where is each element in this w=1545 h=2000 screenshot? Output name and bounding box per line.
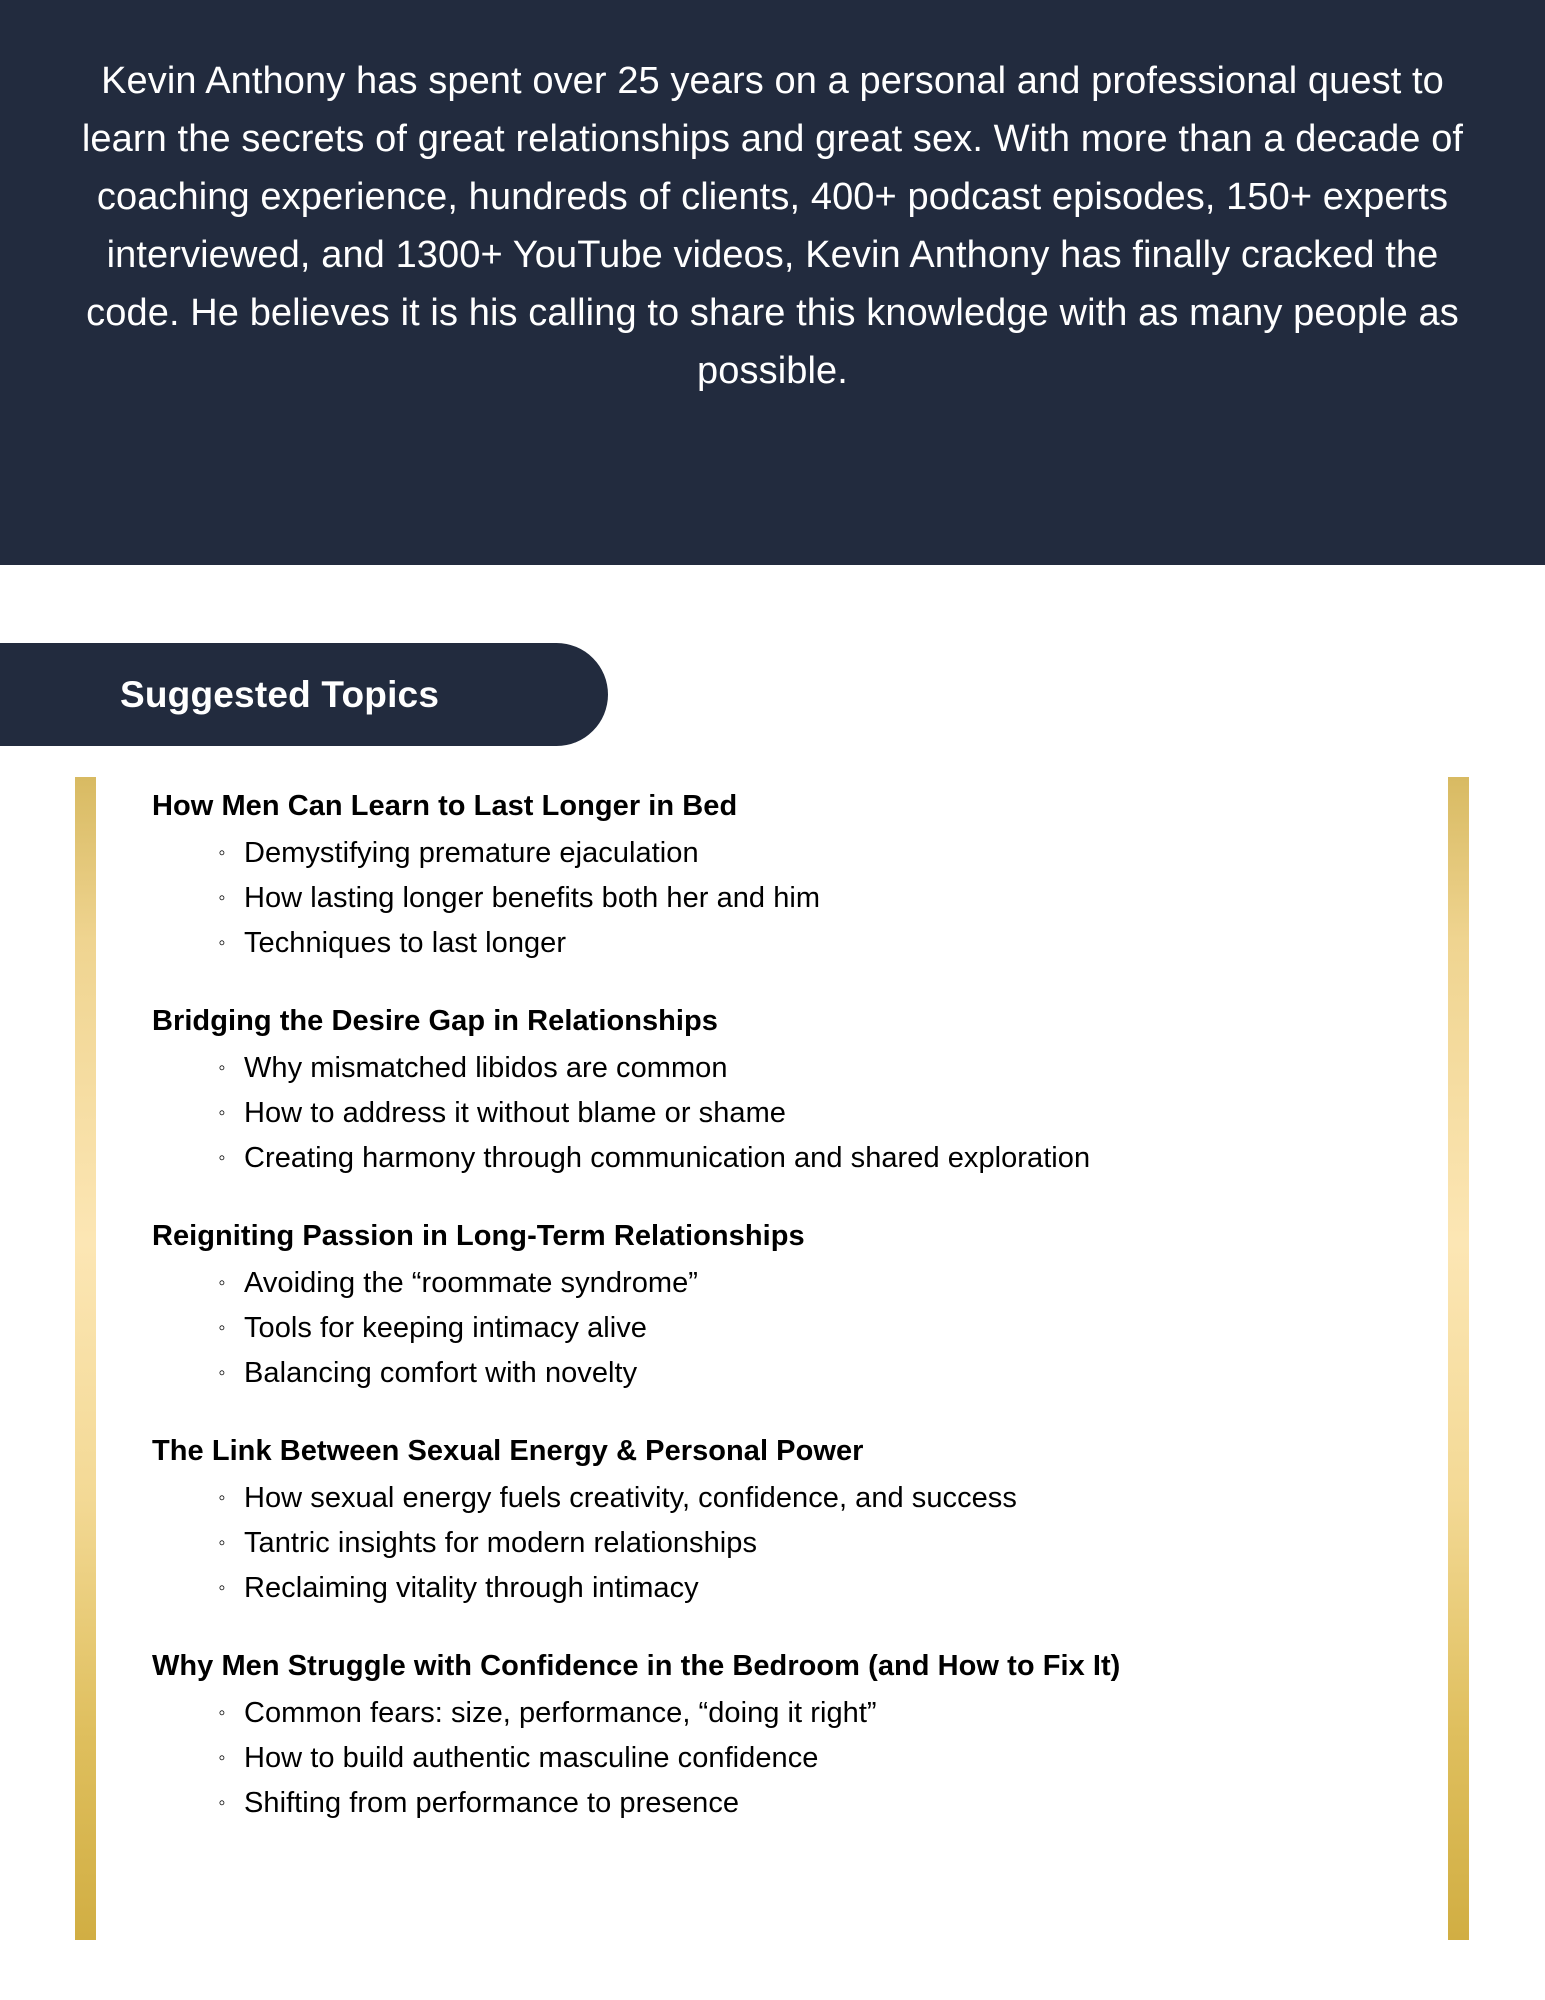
topic-heading: Why Men Struggle with Confidence in the … [152,1646,1432,1686]
hollow-circle-bullet-icon: ◦ [215,831,229,876]
suggested-topics-list: How Men Can Learn to Last Longer in Bed◦… [152,786,1432,1826]
topic-subpoint-label: Shifting from performance to presence [244,1787,739,1819]
topic-subpoint-label: Techniques to last longer [244,927,566,959]
bio-paragraph: Kevin Anthony has spent over 25 years on… [72,52,1473,400]
topic-heading: Bridging the Desire Gap in Relationships [152,1001,1432,1041]
suggested-topics-pill: Suggested Topics [0,643,608,746]
suggested-topics-title: Suggested Topics [120,643,439,746]
hollow-circle-bullet-icon: ◦ [215,921,229,966]
topic-subpoint: ◦Avoiding the “roommate syndrome” [244,1261,1432,1306]
topic-subpoint-list: ◦How sexual energy fuels creativity, con… [152,1476,1432,1611]
topic-subpoint-list: ◦Demystifying premature ejaculation◦How … [152,831,1432,966]
hollow-circle-bullet-icon: ◦ [215,1306,229,1351]
topic-subpoint-label: How lasting longer benefits both her and… [244,882,820,914]
topic-subpoint: ◦Techniques to last longer [244,921,1432,966]
topic-subpoint: ◦How to build authentic masculine confid… [244,1736,1432,1781]
topic-subpoint: ◦Tantric insights for modern relationshi… [244,1521,1432,1566]
topic-subpoint: ◦Demystifying premature ejaculation [244,831,1432,876]
hollow-circle-bullet-icon: ◦ [215,1566,229,1611]
topic-heading: Reigniting Passion in Long-Term Relation… [152,1216,1432,1256]
topic-heading: How Men Can Learn to Last Longer in Bed [152,786,1432,826]
topic-group: Reigniting Passion in Long-Term Relation… [152,1216,1432,1396]
hollow-circle-bullet-icon: ◦ [215,1261,229,1306]
gold-rule-left [75,777,96,1940]
topic-subpoint-label: Common fears: size, performance, “doing … [244,1697,877,1729]
topic-subpoint-label: Reclaiming vitality through intimacy [244,1572,699,1604]
topic-subpoint: ◦Reclaiming vitality through intimacy [244,1566,1432,1611]
topic-subpoint: ◦Balancing comfort with novelty [244,1351,1432,1396]
topic-subpoint-list: ◦Common fears: size, performance, “doing… [152,1691,1432,1826]
topic-group: Bridging the Desire Gap in Relationships… [152,1001,1432,1181]
topic-group: The Link Between Sexual Energy & Persona… [152,1431,1432,1611]
topic-heading: The Link Between Sexual Energy & Persona… [152,1431,1432,1471]
hollow-circle-bullet-icon: ◦ [215,1736,229,1781]
gold-rule-right [1448,777,1469,1940]
topic-subpoint-label: Demystifying premature ejaculation [244,837,699,869]
topic-group: How Men Can Learn to Last Longer in Bed◦… [152,786,1432,966]
topic-subpoint-label: Tools for keeping intimacy alive [244,1312,647,1344]
topic-subpoint-label: Avoiding the “roommate syndrome” [244,1267,698,1299]
hollow-circle-bullet-icon: ◦ [215,1521,229,1566]
topic-subpoint: ◦Why mismatched libidos are common [244,1046,1432,1091]
topic-subpoint: ◦Common fears: size, performance, “doing… [244,1691,1432,1736]
hollow-circle-bullet-icon: ◦ [215,1046,229,1091]
topic-subpoint-label: Tantric insights for modern relationship… [244,1527,757,1559]
topic-subpoint: ◦How to address it without blame or sham… [244,1091,1432,1136]
topic-subpoint: ◦Creating harmony through communication … [244,1136,1432,1181]
topic-subpoint-label: Balancing comfort with novelty [244,1357,637,1389]
topic-subpoint-label: Creating harmony through communication a… [244,1142,1090,1174]
topic-subpoint-list: ◦Why mismatched libidos are common◦How t… [152,1046,1432,1181]
hollow-circle-bullet-icon: ◦ [215,1781,229,1826]
hollow-circle-bullet-icon: ◦ [215,1691,229,1736]
topic-subpoint-label: How to address it without blame or shame [244,1097,786,1129]
topic-subpoint: ◦Tools for keeping intimacy alive [244,1306,1432,1351]
topic-subpoint-label: How to build authentic masculine confide… [244,1742,818,1774]
topic-subpoint: ◦How lasting longer benefits both her an… [244,876,1432,921]
topic-subpoint: ◦How sexual energy fuels creativity, con… [244,1476,1432,1521]
topic-group: Why Men Struggle with Confidence in the … [152,1646,1432,1826]
topic-subpoint-list: ◦Avoiding the “roommate syndrome”◦Tools … [152,1261,1432,1396]
hollow-circle-bullet-icon: ◦ [215,876,229,921]
topic-subpoint-label: How sexual energy fuels creativity, conf… [244,1482,1017,1514]
topic-subpoint-label: Why mismatched libidos are common [244,1052,728,1084]
hollow-circle-bullet-icon: ◦ [215,1091,229,1136]
bio-band: Kevin Anthony has spent over 25 years on… [0,0,1545,565]
hollow-circle-bullet-icon: ◦ [215,1476,229,1521]
hollow-circle-bullet-icon: ◦ [215,1136,229,1181]
hollow-circle-bullet-icon: ◦ [215,1351,229,1396]
topic-subpoint: ◦Shifting from performance to presence [244,1781,1432,1826]
